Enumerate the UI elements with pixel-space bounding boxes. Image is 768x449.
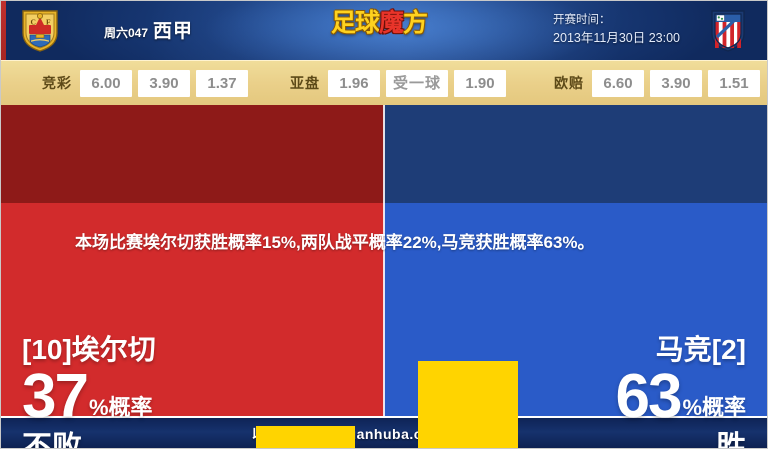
odds-group-yapan: 亚盘 1.96 受一球 1.90 [290,70,506,97]
odds-bar: 竞彩 6.00 3.90 1.37 亚盘 1.96 受一球 1.90 欧赔 6.… [0,60,768,105]
home-banner-band [0,105,384,203]
odds-cell-handicap[interactable]: 受一球 [386,70,448,97]
site-logo[interactable]: 足球魔方 [331,11,427,36]
home-probability-value: 37 [22,368,87,427]
odds-group-title: 竞彩 [42,73,72,93]
away-probability-value: 63 [615,368,680,427]
odds-group-title: 亚盘 [290,73,320,93]
away-probability-bar [418,361,518,449]
left-accent-strip [0,0,6,60]
kickoff-time: 开赛时间： 2013年11月30日 23:00 [553,12,680,47]
odds-cell-home[interactable]: 6.60 [592,70,644,97]
match-league: 西甲 [153,16,193,43]
brand-accent: 魔 [379,9,403,37]
home-probability-bar [256,426,355,449]
odds-cell-home[interactable]: 6.00 [80,70,132,97]
summary-text: 本场比赛埃尔切获胜概率15%,两队战平概率22%,马竞获胜概率63%。 [75,230,715,256]
home-probability-suffix: %概率 [89,397,153,427]
match-label: 周六047 西甲 [104,16,193,43]
odds-cell-away[interactable]: 1.51 [708,70,760,97]
away-banner-band [384,105,768,203]
odds-cell-away[interactable]: 1.90 [454,70,506,97]
svg-text:C: C [31,18,36,27]
match-round: 周六047 [104,24,148,41]
away-probability-suffix: %概率 [682,397,746,427]
home-team-block: [10]埃尔切 37 %概率 不败 [22,335,156,449]
home-verdict: 不败 [22,431,156,449]
svg-text:F: F [46,18,51,27]
odds-group-title: 欧赔 [554,73,584,93]
odds-cell-draw[interactable]: 3.90 [138,70,190,97]
brand-part2: 方 [403,9,427,37]
odds-cell-draw[interactable]: 3.90 [650,70,702,97]
away-team-block: 马竞[2] 63 %概率 胜 [615,335,746,449]
away-probability-row: 63 %概率 [615,368,746,427]
odds-cell-away[interactable]: 1.37 [196,70,248,97]
odds-group-oupei: 欧赔 6.60 3.90 1.51 [554,70,760,97]
probability-panels: 本场比赛埃尔切获胜概率15%,两队战平概率22%,马竞获胜概率63%。 [10]… [0,105,768,416]
header-bar: C F 周六047 西甲 足球魔方 开赛时间： 2013年11月30日 23:0… [0,0,768,60]
odds-group-jingcai: 竞彩 6.00 3.90 1.37 [42,70,248,97]
kickoff-label: 开赛时间： [553,12,680,29]
kickoff-value: 2013年11月30日 23:00 [553,29,680,47]
away-verdict: 胜 [615,431,746,449]
home-probability-row: 37 %概率 [22,368,156,427]
match-probability-graphic: C F 周六047 西甲 足球魔方 开赛时间： 2013年11月30日 23:0… [0,0,768,449]
elche-cf-crest: C F [17,7,63,53]
panel-divider [383,105,385,416]
atletico-madrid-crest [705,7,751,53]
odds-cell-home[interactable]: 1.96 [328,70,380,97]
brand-part1: 足球 [331,9,379,37]
